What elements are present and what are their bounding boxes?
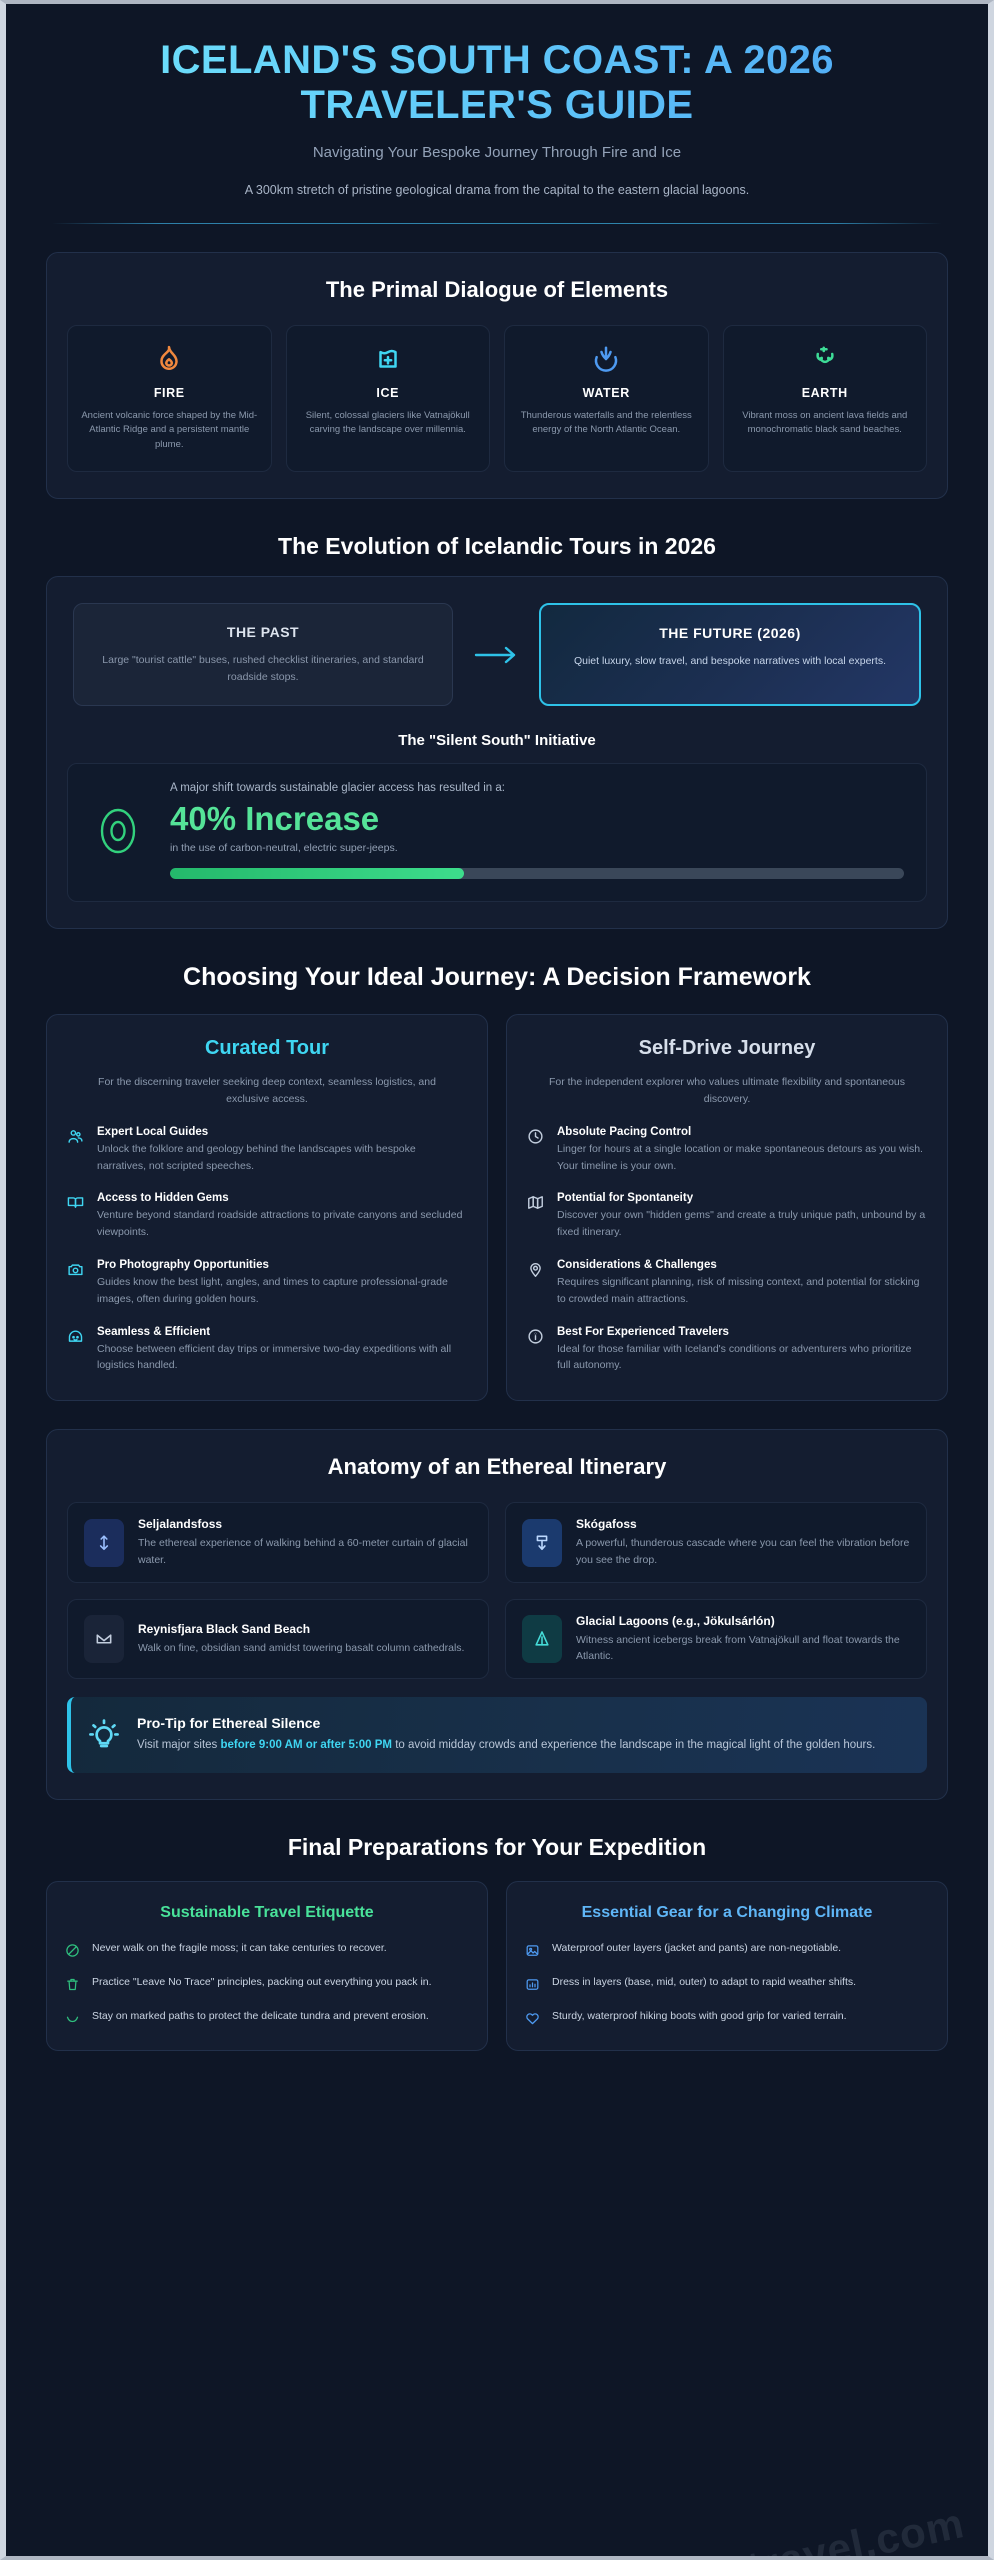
- feature-row: Absolute Pacing Control Linger for hours…: [527, 1126, 927, 1175]
- feature-row: Best For Experienced Travelers Ideal for…: [527, 1326, 927, 1375]
- itinerary-stop-desc: Walk on fine, obsidian sand amidst tower…: [138, 1640, 464, 1656]
- element-name: ICE: [299, 386, 478, 400]
- element-card-ice: ICE Silent, colossal glaciers like Vatna…: [286, 325, 491, 472]
- feature-heading: Absolute Pacing Control: [557, 1126, 927, 1138]
- prep-title: Sustainable Travel Etiquette: [65, 1902, 469, 1924]
- anchor-down-icon: [84, 1519, 124, 1567]
- decision-title: Choosing Your Ideal Journey: A Decision …: [46, 963, 948, 992]
- map-icon: [527, 1192, 545, 1241]
- protip-text: Visit major sites before 9:00 AM or afte…: [137, 1736, 875, 1755]
- iceberg-icon: [522, 1615, 562, 1663]
- guides-icon: [67, 1126, 85, 1175]
- decision-grid: Curated Tour For the discerning traveler…: [46, 1014, 948, 1401]
- clock-icon: [527, 1126, 545, 1175]
- protip-callout: Pro-Tip for Ethereal Silence Visit major…: [67, 1697, 927, 1773]
- arrow-right-icon: [453, 603, 539, 707]
- path-icon: [65, 2008, 81, 2026]
- choice-title: Curated Tour: [67, 1037, 467, 1060]
- flame-icon: [80, 342, 259, 376]
- itinerary-panel: Anatomy of an Ethereal Itinerary Seljala…: [46, 1429, 948, 1800]
- feature-row: Pro Photography Opportunities Guides kno…: [67, 1259, 467, 1308]
- feature-row: Seamless & Efficient Choose between effi…: [67, 1326, 467, 1375]
- prep-title: Essential Gear for a Changing Climate: [525, 1902, 929, 1924]
- prep-list-item: Dress in layers (base, mid, outer) to ad…: [525, 1974, 929, 1992]
- page-title: ICELAND'S SOUTH COAST: A 2026 TRAVELER'S…: [52, 38, 942, 128]
- book-open-icon: [67, 1192, 85, 1241]
- heart-icon: [525, 2008, 541, 2026]
- itinerary-stop-reynisfjara: Reynisfjara Black Sand Beach Walk on fin…: [67, 1599, 489, 1680]
- smile-icon: [67, 1326, 85, 1375]
- element-card-earth: EARTH Vibrant moss on ancient lava field…: [723, 325, 928, 472]
- element-name: FIRE: [80, 386, 259, 400]
- past-desc: Large "tourist cattle" buses, rushed che…: [92, 652, 434, 686]
- no-entry-icon: [65, 1940, 81, 1958]
- feature-body: Ideal for those familiar with Iceland's …: [557, 1341, 927, 1375]
- feature-heading: Considerations & Challenges: [557, 1259, 927, 1271]
- feature-row: Expert Local Guides Unlock the folklore …: [67, 1126, 467, 1175]
- itinerary-stop-desc: The ethereal experience of walking behin…: [138, 1535, 472, 1568]
- itinerary-stop-name: Reynisfjara Black Sand Beach: [138, 1622, 464, 1636]
- element-name: WATER: [517, 386, 696, 400]
- prep-item-text: Stay on marked paths to protect the deli…: [92, 2008, 429, 2025]
- statistic-box: A major shift towards sustainable glacie…: [67, 763, 927, 902]
- initiative-title: The "Silent South" Initiative: [67, 732, 927, 749]
- feature-row: Potential for Spontaneity Discover your …: [527, 1192, 927, 1241]
- lightbulb-icon: [87, 1717, 121, 1753]
- feature-body: Choose between efficient day trips or im…: [97, 1341, 467, 1375]
- evolution-panel: THE PAST Large "tourist cattle" buses, r…: [46, 576, 948, 930]
- feature-heading: Expert Local Guides: [97, 1126, 467, 1138]
- prep-list-item: Practice "Leave No Trace" principles, pa…: [65, 1974, 469, 1992]
- map-pin-icon: [527, 1259, 545, 1308]
- itinerary-stop-name: Skógafoss: [576, 1517, 910, 1531]
- prep-list-item: Stay on marked paths to protect the deli…: [65, 2008, 469, 2026]
- feature-body: Venture beyond standard roadside attract…: [97, 1207, 467, 1241]
- prep-list-item: Sturdy, waterproof hiking boots with goo…: [525, 2008, 929, 2026]
- prep-item-text: Never walk on the fragile moss; it can t…: [92, 1940, 387, 1957]
- element-name: EARTH: [736, 386, 915, 400]
- infographic-page: ICELAND'S SOUTH COAST: A 2026 TRAVELER'S…: [0, 0, 994, 2560]
- camera-icon: [67, 1259, 85, 1308]
- prep-list-item: Waterproof outer layers (jacket and pant…: [525, 1940, 929, 1958]
- wave-circle-icon: [517, 342, 696, 376]
- element-card-fire: FIRE Ancient volcanic force shaped by th…: [67, 325, 272, 472]
- choice-card-self-drive: Self-Drive Journey For the independent e…: [506, 1014, 948, 1401]
- prep-list-item: Never walk on the fragile moss; it can t…: [65, 1940, 469, 1958]
- elements-grid: FIRE Ancient volcanic force shaped by th…: [67, 325, 927, 472]
- statistic-note: in the use of carbon-neutral, electric s…: [170, 842, 904, 854]
- hero-header: ICELAND'S SOUTH COAST: A 2026 TRAVELER'S…: [6, 4, 988, 224]
- feature-heading: Pro Photography Opportunities: [97, 1259, 467, 1271]
- future-desc: Quiet luxury, slow travel, and bespoke n…: [559, 653, 901, 670]
- final-title: Final Preparations for Your Expedition: [46, 1834, 948, 1861]
- feature-body: Linger for hours at a single location or…: [557, 1141, 927, 1175]
- prep-item-text: Waterproof outer layers (jacket and pant…: [552, 1940, 841, 1957]
- feature-heading: Potential for Spontaneity: [557, 1192, 927, 1204]
- envelope-icon: [84, 1615, 124, 1663]
- element-card-water: WATER Thunderous waterfalls and the rele…: [504, 325, 709, 472]
- past-label: THE PAST: [92, 624, 434, 640]
- header-divider: [52, 223, 942, 224]
- itinerary-title: Anatomy of an Ethereal Itinerary: [67, 1454, 927, 1480]
- waterfall-icon: [522, 1519, 562, 1567]
- prep-item-text: Dress in layers (base, mid, outer) to ad…: [552, 1974, 856, 1991]
- image-icon: [525, 1940, 541, 1958]
- trash-icon: [65, 1974, 81, 1992]
- choice-subtitle: For the independent explorer who values …: [527, 1074, 927, 1108]
- choice-title: Self-Drive Journey: [527, 1037, 927, 1060]
- element-desc: Vibrant moss on ancient lava fields and …: [736, 409, 915, 438]
- final-grid: Sustainable Travel Etiquette Never walk …: [46, 1881, 948, 2051]
- evolution-title: The Evolution of Icelandic Tours in 2026: [46, 533, 948, 560]
- statistic-headline: 40% Increase: [170, 800, 904, 838]
- chart-icon: [525, 1974, 541, 1992]
- feature-body: Discover your own "hidden gems" and crea…: [557, 1207, 927, 1241]
- protip-text-after: to avoid midday crowds and experience th…: [392, 1739, 875, 1751]
- itinerary-stop-skogafoss: Skógafoss A powerful, thunderous cascade…: [505, 1502, 927, 1583]
- protip-text-before: Visit major sites: [137, 1739, 221, 1751]
- page-description: A 300km stretch of pristine geological d…: [52, 183, 942, 197]
- protip-heading: Pro-Tip for Ethereal Silence: [137, 1715, 875, 1731]
- progress-bar-track: [170, 868, 904, 879]
- itinerary-stop-name: Seljalandsfoss: [138, 1517, 472, 1531]
- elements-title: The Primal Dialogue of Elements: [67, 277, 927, 303]
- feature-body: Unlock the folklore and geology behind t…: [97, 1141, 467, 1175]
- choice-card-curated-tour: Curated Tour For the discerning traveler…: [46, 1014, 488, 1401]
- future-card: THE FUTURE (2026) Quiet luxury, slow tra…: [539, 603, 921, 707]
- page-subtitle: Navigating Your Bespoke Journey Through …: [52, 144, 942, 161]
- prep-card-etiquette: Sustainable Travel Etiquette Never walk …: [46, 1881, 488, 2051]
- itinerary-stop-desc: Witness ancient icebergs break from Vatn…: [576, 1632, 910, 1665]
- feature-heading: Access to Hidden Gems: [97, 1192, 467, 1204]
- feature-body: Guides know the best light, angles, and …: [97, 1274, 467, 1308]
- info-circle-icon: [527, 1326, 545, 1375]
- feature-row: Access to Hidden Gems Venture beyond sta…: [67, 1192, 467, 1241]
- itinerary-grid: Seljalandsfoss The ethereal experience o…: [67, 1502, 927, 1679]
- statistic-content: A major shift towards sustainable glacie…: [170, 782, 904, 879]
- feature-body: Requires significant planning, risk of m…: [557, 1274, 927, 1308]
- progress-bar-fill: [170, 868, 464, 879]
- itinerary-stop-glacial-lagoons: Glacial Lagoons (e.g., Jökulsárlón) Witn…: [505, 1599, 927, 1680]
- feature-heading: Seamless & Efficient: [97, 1326, 467, 1338]
- glacier-icon: [299, 342, 478, 376]
- evolution-comparison: THE PAST Large "tourist cattle" buses, r…: [67, 601, 927, 707]
- watermark: thenordictravel.com: [547, 2499, 968, 2560]
- feature-row: Considerations & Challenges Requires sig…: [527, 1259, 927, 1308]
- element-desc: Thunderous waterfalls and the relentless…: [517, 409, 696, 438]
- past-card: THE PAST Large "tourist cattle" buses, r…: [73, 603, 453, 707]
- prep-item-text: Practice "Leave No Trace" principles, pa…: [92, 1974, 432, 1991]
- statistic-lead: A major shift towards sustainable glacie…: [170, 782, 904, 794]
- prep-item-text: Sturdy, waterproof hiking boots with goo…: [552, 2008, 847, 2025]
- moss-icon: [736, 342, 915, 376]
- itinerary-stop-desc: A powerful, thunderous cascade where you…: [576, 1535, 910, 1568]
- choice-subtitle: For the discerning traveler seeking deep…: [67, 1074, 467, 1108]
- future-label: THE FUTURE (2026): [559, 625, 901, 641]
- protip-highlight: before 9:00 AM or after 5:00 PM: [221, 1739, 392, 1751]
- itinerary-stop-name: Glacial Lagoons (e.g., Jökulsárlón): [576, 1614, 910, 1628]
- itinerary-stop-seljalandsfoss: Seljalandsfoss The ethereal experience o…: [67, 1502, 489, 1583]
- prep-card-gear: Essential Gear for a Changing Climate Wa…: [506, 1881, 948, 2051]
- elements-panel: The Primal Dialogue of Elements FIRE Anc…: [46, 252, 948, 499]
- element-desc: Ancient volcanic force shaped by the Mid…: [80, 409, 259, 453]
- element-desc: Silent, colossal glaciers like Vatnajöku…: [299, 409, 478, 438]
- feature-heading: Best For Experienced Travelers: [557, 1326, 927, 1338]
- target-ring-icon: [90, 803, 146, 859]
